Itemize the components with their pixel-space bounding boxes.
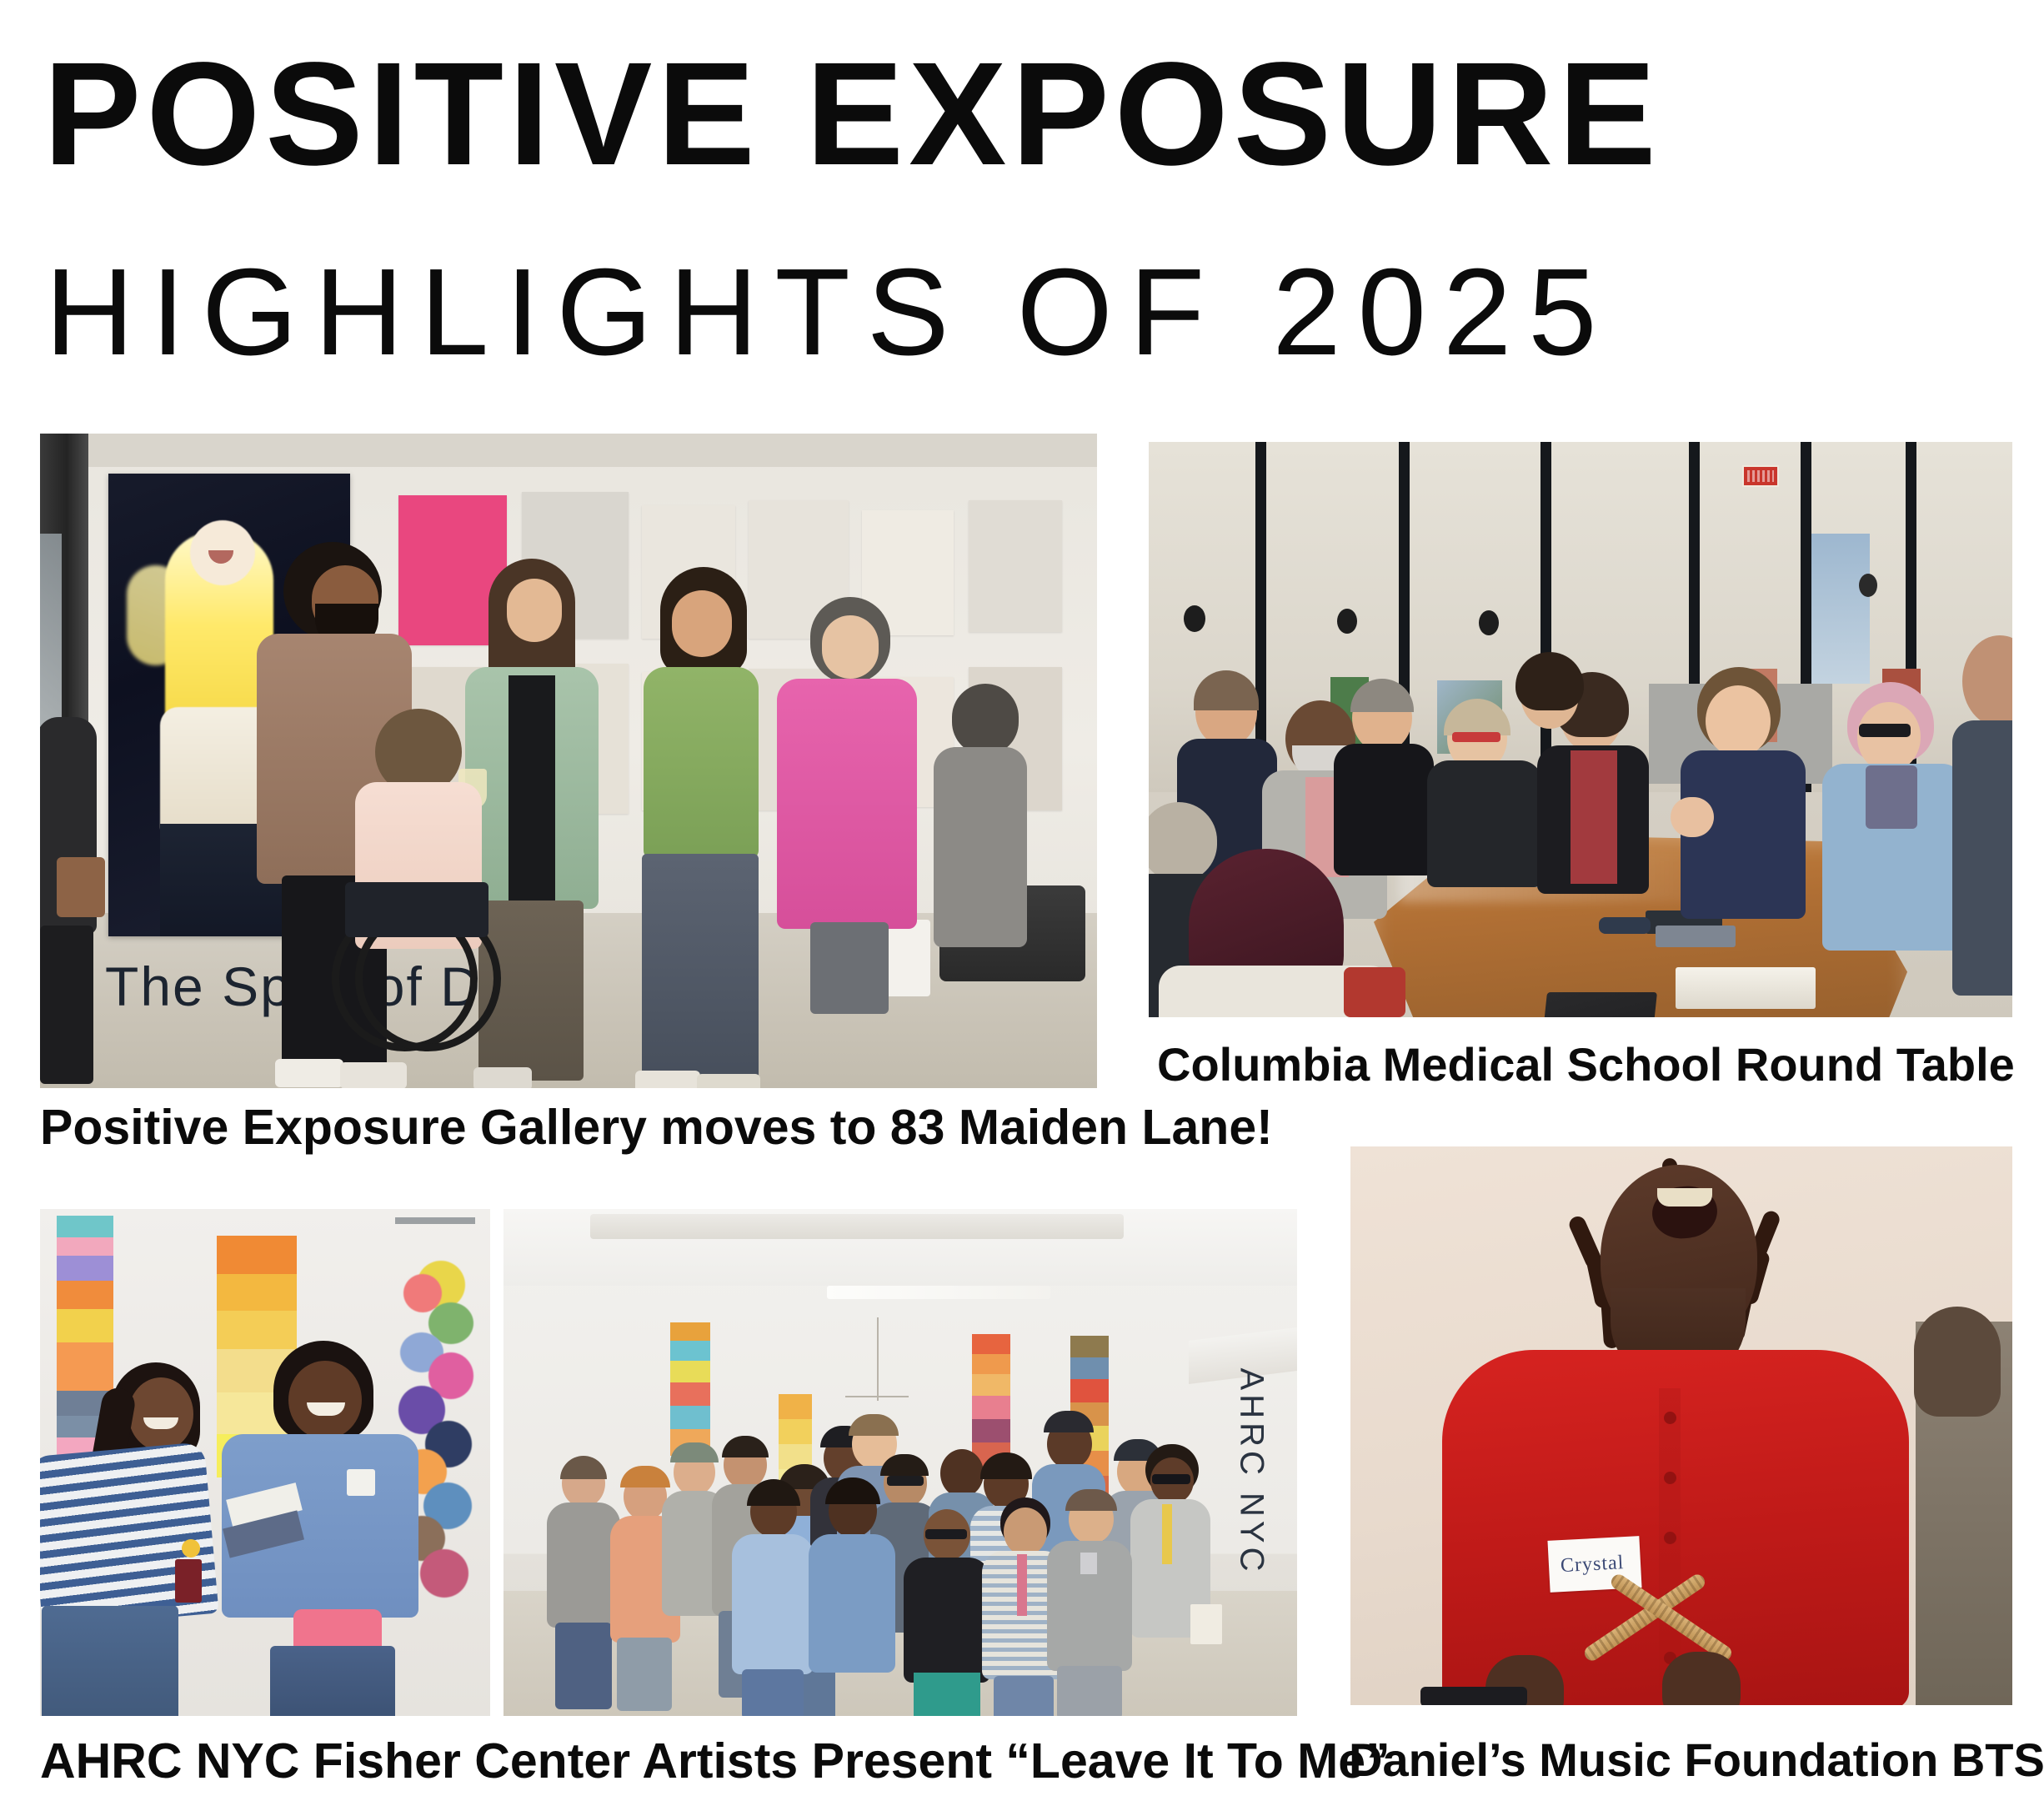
red-eyeglasses bbox=[1452, 732, 1500, 742]
guest-shoe bbox=[473, 1067, 532, 1088]
yarn-rod bbox=[395, 1217, 475, 1224]
photo-gallery-opening: The Spirit of Dif bbox=[40, 434, 1097, 1088]
guest-inner-shirt bbox=[508, 675, 555, 900]
sunglasses bbox=[1859, 724, 1911, 737]
group-member bbox=[547, 1459, 620, 1709]
banner-band bbox=[779, 1419, 812, 1444]
roundtable-participant bbox=[1499, 660, 1607, 869]
banner-band bbox=[779, 1394, 812, 1419]
photo-leave-it-to-me-group: AHRC NYC bbox=[503, 1209, 1297, 1716]
fisher-scene bbox=[40, 1209, 490, 1716]
banner-band bbox=[670, 1361, 710, 1382]
jacket-logo-patch bbox=[347, 1469, 375, 1496]
guest-hair bbox=[952, 684, 1019, 755]
member-head bbox=[1004, 1508, 1047, 1556]
group-member bbox=[904, 1509, 990, 1716]
guest-face bbox=[822, 615, 879, 679]
participant-red-bag bbox=[1344, 967, 1405, 1017]
cardigan-button bbox=[1664, 1412, 1676, 1424]
participant-head bbox=[1962, 635, 2012, 727]
member-lanyard bbox=[1017, 1554, 1027, 1616]
banner-band bbox=[670, 1341, 710, 1361]
artist-jeans bbox=[270, 1646, 395, 1716]
artist-jeans bbox=[42, 1606, 178, 1716]
participant-teeth bbox=[1657, 1188, 1712, 1207]
mobile-sculpture-arm bbox=[845, 1396, 909, 1397]
member-jeans bbox=[555, 1623, 612, 1709]
chair-back bbox=[1420, 1687, 1527, 1705]
photo-fisher-center-artists bbox=[40, 1209, 490, 1716]
gallery-visitor bbox=[40, 717, 102, 1084]
guest-jacket bbox=[934, 747, 1027, 947]
banner-band bbox=[972, 1334, 1010, 1354]
photo-daniels-music-foundation: Crystal bbox=[1350, 1146, 2012, 1705]
exit-sign bbox=[1742, 465, 1779, 487]
member-black-coat bbox=[904, 1558, 990, 1683]
participant-scarf bbox=[1866, 765, 1917, 829]
gallery-guest-green-top bbox=[624, 567, 779, 1088]
eyeglass-case bbox=[1599, 917, 1651, 934]
artist-id-badge bbox=[175, 1559, 202, 1603]
member-jeans bbox=[742, 1669, 804, 1716]
speaker-hand bbox=[1671, 797, 1714, 837]
mobile-sculpture bbox=[877, 1317, 879, 1401]
group-member bbox=[732, 1486, 814, 1716]
member-necklace bbox=[1080, 1553, 1097, 1574]
woven-banner bbox=[972, 1334, 1010, 1467]
guest-shoe bbox=[635, 1071, 700, 1088]
ahrc-nyc-sign-text: AHRC NYC bbox=[1233, 1368, 1270, 1576]
banner-band bbox=[972, 1354, 1010, 1374]
participant-face bbox=[1857, 702, 1921, 772]
group-member bbox=[809, 1484, 895, 1716]
exterior-window bbox=[1811, 534, 1870, 684]
ceiling-speaker bbox=[1337, 609, 1357, 634]
page-subtitle: HIGHLIGHTS OF 2025 bbox=[45, 250, 2012, 375]
guest-face bbox=[672, 590, 732, 657]
weave-band bbox=[57, 1216, 113, 1237]
weave-band bbox=[57, 1309, 113, 1342]
participant-right-hand bbox=[1662, 1652, 1741, 1705]
caption-gallery: Positive Exposure Gallery moves to 83 Ma… bbox=[40, 1099, 1273, 1156]
ceiling-speaker bbox=[1479, 610, 1499, 635]
member-teal-skirt bbox=[914, 1673, 980, 1716]
gallery-guest-pink-coat bbox=[777, 597, 919, 1014]
banner-band bbox=[670, 1406, 710, 1429]
guest-face bbox=[507, 579, 562, 642]
roundtable-participant-foreground bbox=[1170, 849, 1420, 1017]
photo-columbia-round-table bbox=[1149, 442, 2012, 1017]
member-jeans bbox=[1057, 1666, 1122, 1716]
roundtable-participant bbox=[1956, 635, 2012, 994]
gallery-scene: The Spirit of Dif bbox=[40, 434, 1097, 1088]
roundtable-participant bbox=[1822, 685, 1964, 952]
page-title: POSITIVE EXPOSURE bbox=[43, 43, 2011, 185]
weave-band bbox=[57, 1281, 113, 1309]
roundtable-participant bbox=[1332, 684, 1435, 867]
wheelchair-seat bbox=[345, 882, 488, 937]
weave-band bbox=[217, 1274, 297, 1311]
daniels-scene: Crystal bbox=[1350, 1146, 2012, 1705]
columbia-scene bbox=[1149, 442, 2012, 1017]
ahrc-nyc-wall-sign: AHRC NYC bbox=[1215, 1367, 1287, 1576]
caption-daniels: Daniel’s Music Foundation BTS bbox=[1349, 1733, 2044, 1787]
member-jeans bbox=[994, 1676, 1054, 1716]
folder bbox=[1656, 926, 1736, 947]
fisher-artist-striped bbox=[40, 1362, 243, 1716]
member-blue-jacket bbox=[732, 1534, 814, 1674]
book-stack bbox=[1676, 967, 1816, 1009]
visitor-legs bbox=[40, 926, 93, 1084]
weave-band bbox=[57, 1237, 113, 1256]
member-eyeglasses bbox=[1152, 1474, 1190, 1484]
member-eyeglasses bbox=[925, 1529, 967, 1539]
participant-hair bbox=[1350, 679, 1414, 712]
participant-shirt bbox=[1952, 720, 2012, 996]
woven-banner bbox=[670, 1322, 710, 1456]
participant-hair bbox=[1194, 670, 1259, 710]
cardigan-button bbox=[1664, 1532, 1676, 1544]
guest-pink-coat bbox=[777, 679, 917, 929]
roundtable-speaker bbox=[1676, 674, 1809, 924]
guest-shoe bbox=[697, 1074, 760, 1088]
member-hoodie bbox=[547, 1502, 620, 1628]
caption-columbia: Columbia Medical School Round Table bbox=[1157, 1037, 2015, 1091]
banner-band bbox=[1070, 1336, 1109, 1357]
banner-band bbox=[972, 1419, 1010, 1442]
member-lanyard bbox=[1162, 1504, 1172, 1564]
gallery-ceiling bbox=[40, 434, 1097, 467]
guest-shoe bbox=[340, 1062, 407, 1088]
artist-face bbox=[128, 1377, 193, 1451]
visitor-shoulder-bag bbox=[57, 857, 105, 917]
member-denim-jacket bbox=[809, 1534, 895, 1673]
artist-face bbox=[288, 1361, 362, 1439]
guest-trousers bbox=[810, 922, 889, 1014]
group-scene: AHRC NYC bbox=[503, 1209, 1297, 1716]
speaker-face bbox=[1706, 685, 1771, 757]
member-book bbox=[1190, 1604, 1222, 1644]
group-member bbox=[1047, 1494, 1132, 1716]
gallery-guest-right bbox=[927, 684, 1027, 959]
gallery-wheelchair bbox=[332, 877, 498, 1056]
artist-badge-reel bbox=[182, 1539, 200, 1558]
guest-green-tank bbox=[644, 667, 759, 859]
group-member bbox=[1130, 1451, 1210, 1716]
caption-ahrc: AHRC NYC Fisher Center Artists Present “… bbox=[40, 1733, 1390, 1789]
wall-print bbox=[969, 500, 1062, 632]
ceiling-speaker bbox=[1184, 605, 1205, 632]
background-person-hair bbox=[1914, 1307, 2001, 1417]
banner-band bbox=[670, 1322, 710, 1341]
banner-band bbox=[670, 1382, 710, 1406]
fisher-artist-blue-jacket bbox=[222, 1341, 437, 1716]
participant-hair bbox=[1515, 652, 1584, 710]
member-hair bbox=[560, 1456, 607, 1479]
ceiling-light bbox=[827, 1286, 1050, 1299]
cardigan-button bbox=[1664, 1472, 1676, 1484]
guest-shoe bbox=[275, 1059, 343, 1087]
banner-band bbox=[972, 1374, 1010, 1396]
name-tag-text: Crystal bbox=[1560, 1552, 1625, 1578]
highlights-poster: POSITIVE EXPOSURE HIGHLIGHTS OF 2025 bbox=[0, 0, 2044, 1806]
banner-band bbox=[1070, 1379, 1109, 1402]
ceiling-speaker bbox=[1859, 574, 1877, 597]
open-laptop bbox=[1530, 992, 1657, 1017]
weave-band bbox=[217, 1236, 297, 1274]
banner-band bbox=[972, 1396, 1010, 1419]
banner-band bbox=[1070, 1357, 1109, 1379]
weave-band bbox=[57, 1256, 113, 1281]
guest-jeans bbox=[642, 854, 759, 1081]
ceiling-duct bbox=[590, 1214, 1124, 1239]
